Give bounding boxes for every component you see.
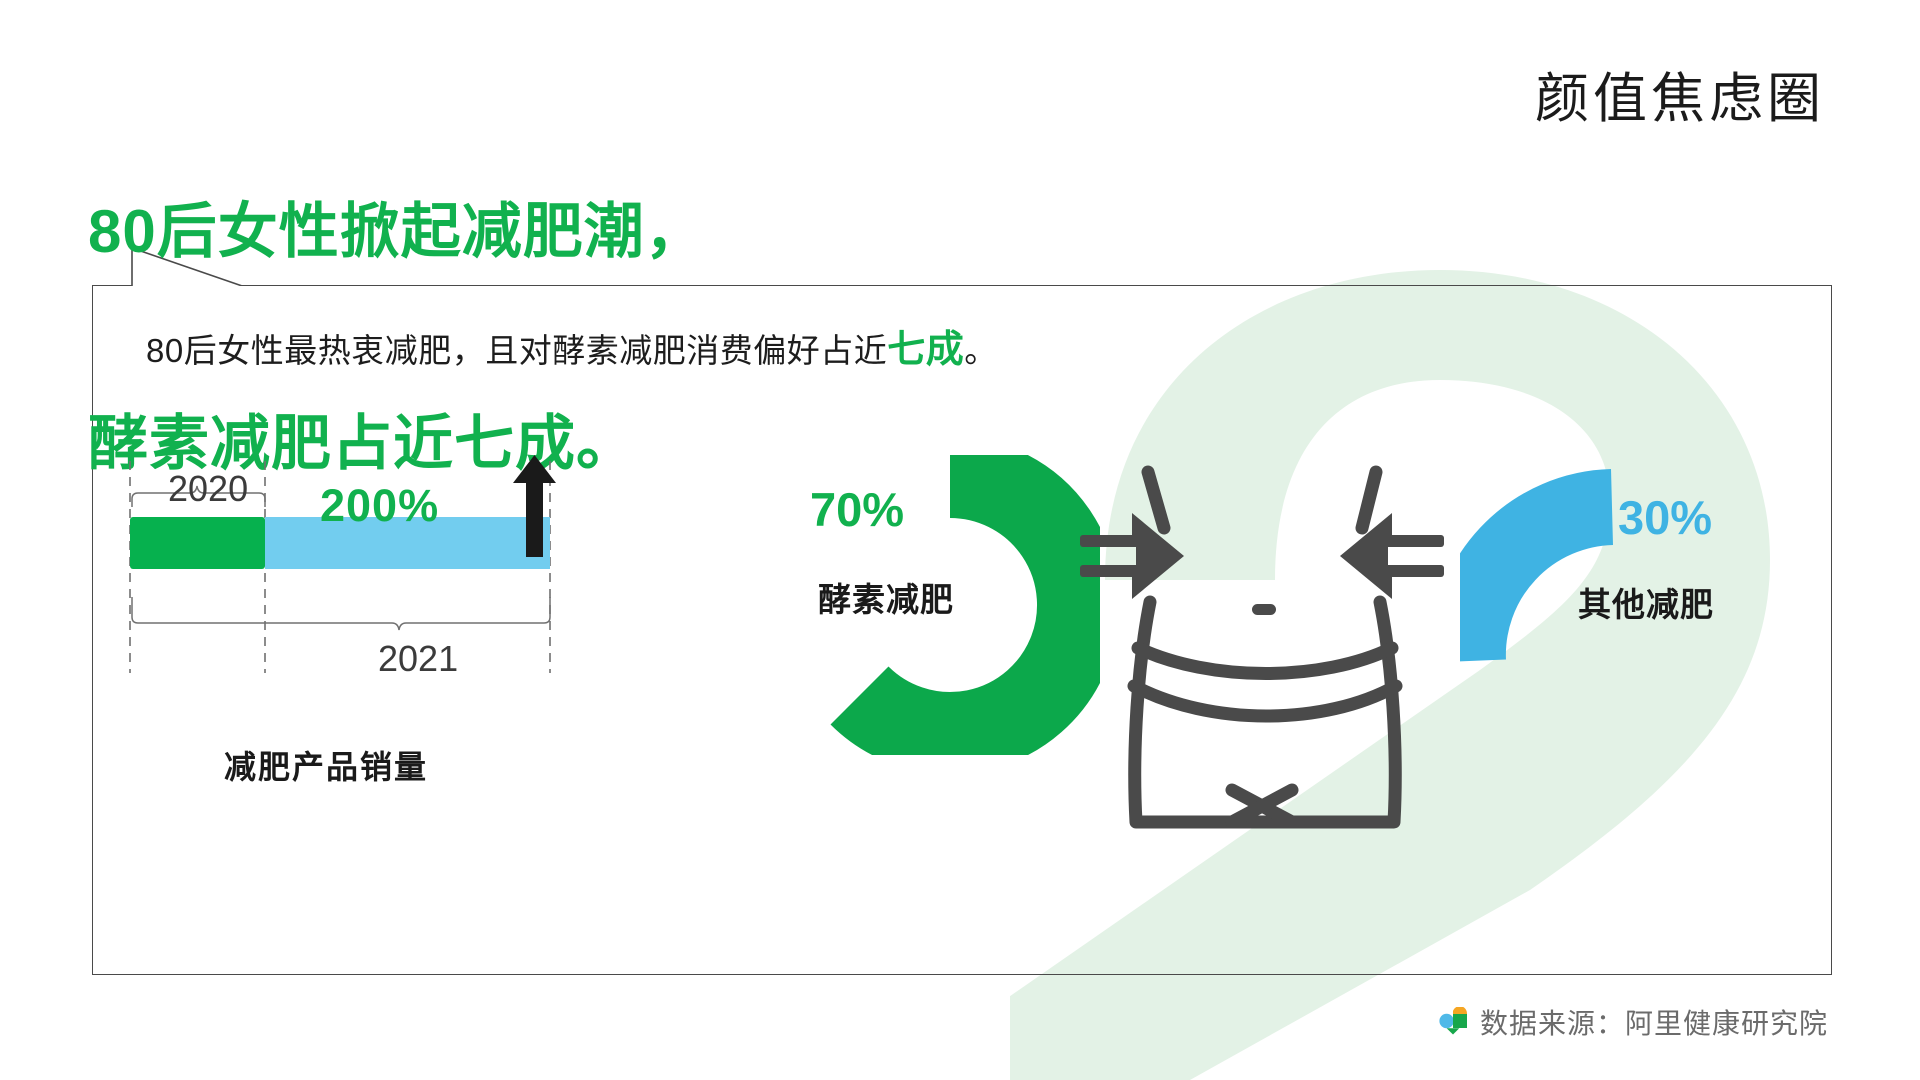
other-label: 其他减肥	[1578, 578, 1714, 626]
bar-label-2021: 2021	[378, 638, 458, 680]
alibaba-health-logo	[1438, 1007, 1468, 1037]
lead-prefix: 80后女性最热衷减肥，且对酵素减肥消费偏好占近	[146, 332, 887, 369]
growth-value: 200%	[320, 480, 439, 532]
slim-waist-icon	[1080, 450, 1480, 840]
enzyme-percent: 70%	[810, 482, 904, 537]
lead-sentence: 80后女性最热衷减肥，且对酵素减肥消费偏好占近七成。	[146, 318, 998, 373]
other-percent: 30%	[1618, 490, 1712, 545]
lead-emphasis: 七成	[887, 329, 964, 371]
enzyme-label: 酵素减肥	[818, 573, 954, 621]
data-source-text: 数据来源：阿里健康研究院	[1480, 1002, 1828, 1042]
bar-label-2020: 2020	[168, 468, 248, 510]
bar-chart-caption: 减肥产品销量	[224, 742, 428, 788]
footer: 数据来源：阿里健康研究院	[1438, 1002, 1828, 1042]
right-inward-arrows	[1340, 513, 1444, 599]
bar-2020	[130, 517, 265, 569]
page-title-line-1: 80后女性掀起减肥潮，	[88, 197, 706, 268]
lead-suffix: 。	[964, 332, 998, 369]
section-tag: 颜值焦虑圈	[1535, 54, 1825, 133]
